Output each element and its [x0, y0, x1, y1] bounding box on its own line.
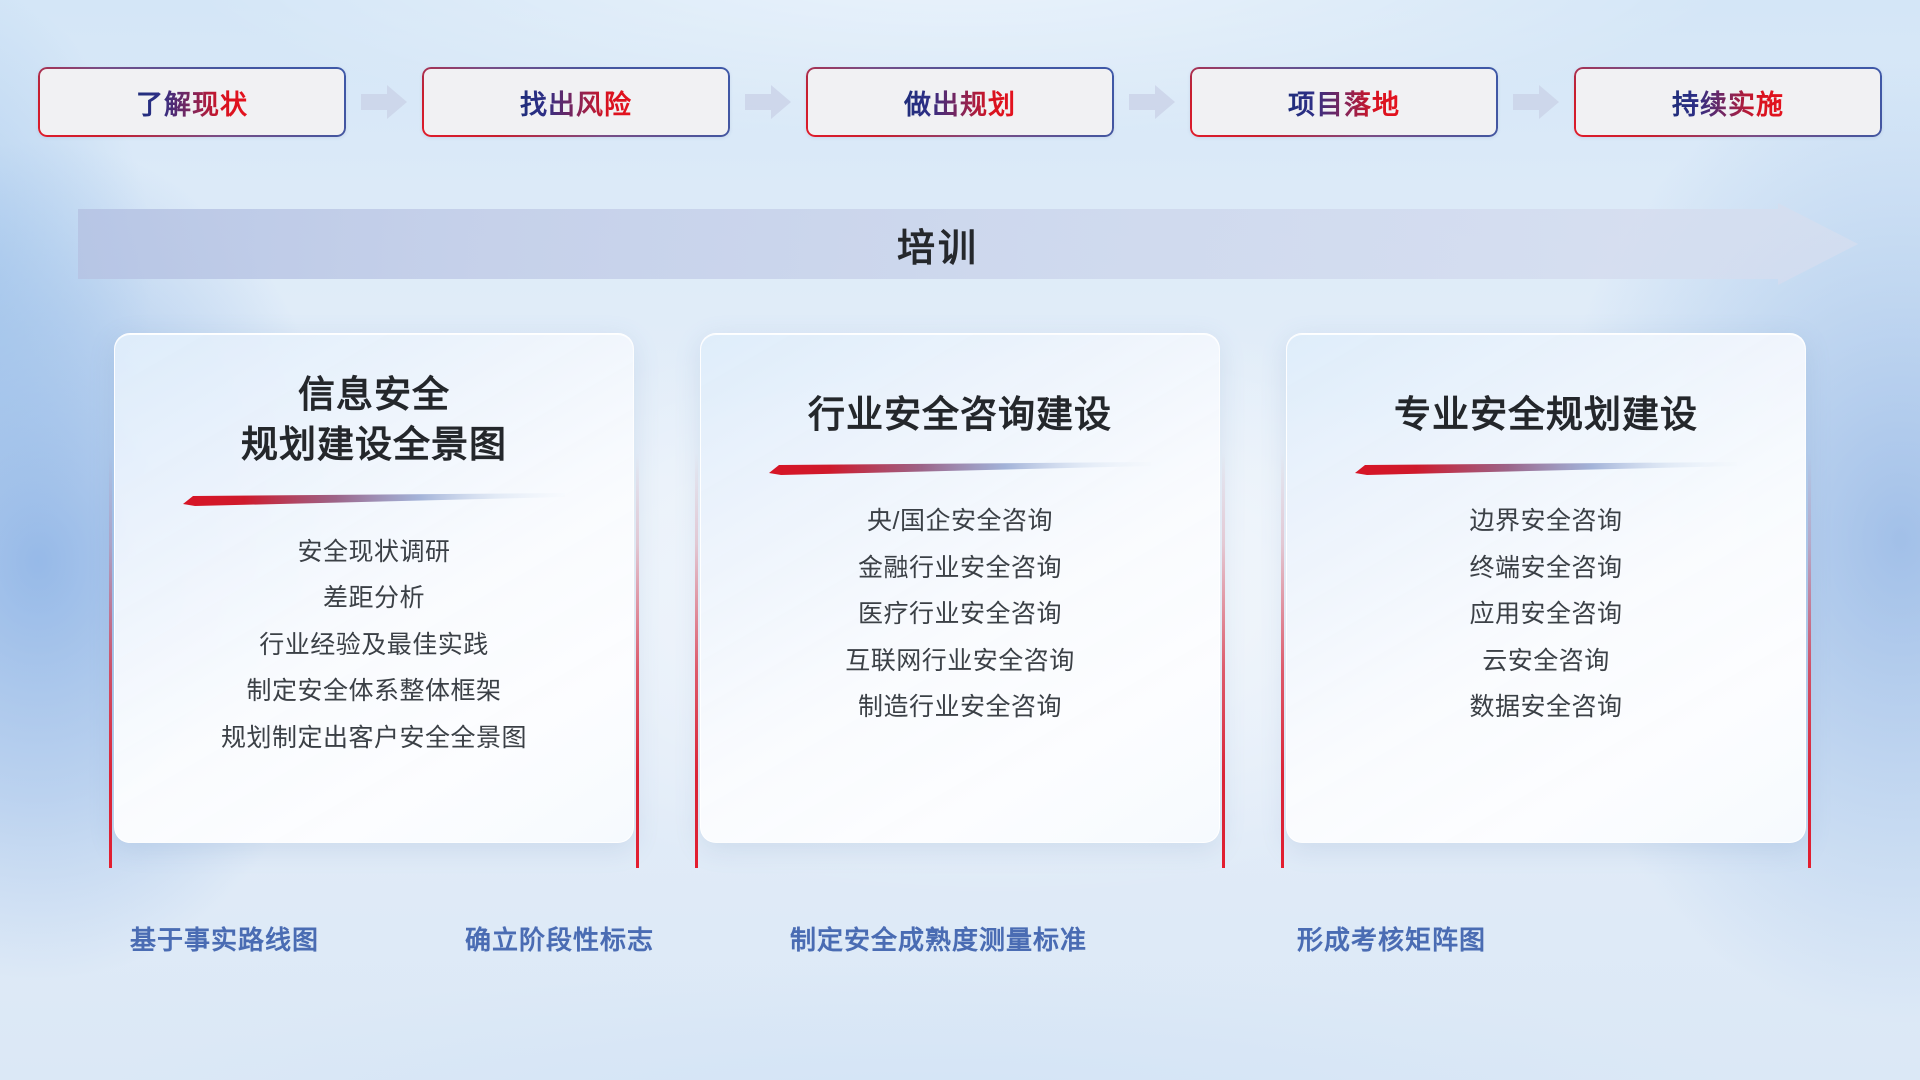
red-gradient-divider-icon — [183, 493, 565, 506]
right-block-arrow-icon — [745, 85, 791, 119]
card-3-list-item: 数据安全咨询 — [1469, 687, 1622, 729]
card-1[interactable]: 信息安全 规划建设全景图安全现状调研差距分析行业经验及最佳实践制定安全体系整体框… — [114, 333, 634, 843]
card-1-left-accent-line — [109, 453, 112, 868]
footer-label-2: 确立阶段性标志 — [465, 920, 654, 957]
card-1-list-item: 安全现状调研 — [297, 532, 450, 574]
process-step-row: 了解现状找出风险做出规划项目落地持续实施 — [0, 62, 1920, 142]
step-arrow-1 — [346, 67, 422, 137]
step-box-5[interactable]: 持续实施 — [1574, 67, 1882, 137]
card-1-list: 安全现状调研差距分析行业经验及最佳实践制定安全体系整体框架规划制定出客户安全全景… — [221, 532, 527, 760]
card-1-divider — [183, 493, 565, 506]
step-arrow-4 — [1498, 67, 1574, 137]
card-2-title: 行业安全咨询建设 — [808, 390, 1112, 440]
step-label-1: 了解现状 — [136, 83, 248, 122]
card-1-list-item: 行业经验及最佳实践 — [259, 625, 489, 667]
card-2[interactable]: 行业安全咨询建设央/国企安全咨询金融行业安全咨询医疗行业安全咨询互联网行业安全咨… — [700, 333, 1220, 843]
card-3-title: 专业安全规划建设 — [1394, 390, 1698, 440]
red-gradient-divider-icon — [1355, 462, 1737, 475]
step-arrow-2 — [730, 67, 806, 137]
card-2-list-item: 医疗行业安全咨询 — [858, 594, 1062, 636]
card-3-list: 边界安全咨询终端安全咨询应用安全咨询云安全咨询数据安全咨询 — [1469, 501, 1622, 729]
card-3-right-accent-line — [1808, 453, 1811, 868]
card-1-title: 信息安全 规划建设全景图 — [241, 370, 507, 471]
footer-label-row: 基于事实路线图确立阶段性标志制定安全成熟度测量标准形成考核矩阵图 — [0, 920, 1920, 972]
footer-label-3: 制定安全成熟度测量标准 — [790, 920, 1087, 957]
card-wrapper-1: 信息安全 规划建设全景图安全现状调研差距分析行业经验及最佳实践制定安全体系整体框… — [109, 333, 639, 878]
card-3-divider — [1355, 462, 1737, 475]
banner-title: 培训 — [78, 203, 1858, 285]
footer-label-1: 基于事实路线图 — [130, 920, 319, 957]
step-label-3: 做出规划 — [904, 83, 1016, 122]
right-block-arrow-icon — [1513, 85, 1559, 119]
step-label-2: 找出风险 — [520, 83, 632, 122]
card-1-list-item: 制定安全体系整体框架 — [246, 671, 501, 713]
card-3-left-accent-line — [1281, 453, 1284, 868]
card-3-list-item: 终端安全咨询 — [1469, 548, 1622, 590]
training-banner: 培训 — [78, 203, 1858, 285]
card-wrapper-3: 专业安全规划建设边界安全咨询终端安全咨询应用安全咨询云安全咨询数据安全咨询 — [1281, 333, 1811, 878]
card-2-divider — [769, 462, 1151, 475]
card-2-left-accent-line — [695, 453, 698, 868]
card-wrapper-2: 行业安全咨询建设央/国企安全咨询金融行业安全咨询医疗行业安全咨询互联网行业安全咨… — [695, 333, 1225, 878]
card-2-list: 央/国企安全咨询金融行业安全咨询医疗行业安全咨询互联网行业安全咨询制造行业安全咨… — [845, 501, 1075, 729]
card-2-list-item: 央/国企安全咨询 — [867, 501, 1053, 543]
card-3-list-item: 云安全咨询 — [1482, 641, 1610, 683]
step-box-1[interactable]: 了解现状 — [38, 67, 346, 137]
card-1-list-item: 规划制定出客户安全全景图 — [221, 718, 527, 760]
red-gradient-divider-icon — [769, 462, 1151, 475]
card-3-list-item: 边界安全咨询 — [1469, 501, 1622, 543]
card-2-right-accent-line — [1222, 453, 1225, 868]
card-3-list-item: 应用安全咨询 — [1469, 594, 1622, 636]
step-label-5: 持续实施 — [1672, 83, 1784, 122]
right-block-arrow-icon — [1129, 85, 1175, 119]
step-label-4: 项目落地 — [1288, 83, 1400, 122]
step-box-4[interactable]: 项目落地 — [1190, 67, 1498, 137]
right-block-arrow-icon — [361, 85, 407, 119]
footer-label-4: 形成考核矩阵图 — [1297, 920, 1486, 957]
card-row: 信息安全 规划建设全景图安全现状调研差距分析行业经验及最佳实践制定安全体系整体框… — [0, 333, 1920, 878]
step-arrow-3 — [1114, 67, 1190, 137]
card-2-list-item: 互联网行业安全咨询 — [845, 641, 1075, 683]
step-box-3[interactable]: 做出规划 — [806, 67, 1114, 137]
card-1-list-item: 差距分析 — [323, 578, 425, 620]
card-3[interactable]: 专业安全规划建设边界安全咨询终端安全咨询应用安全咨询云安全咨询数据安全咨询 — [1286, 333, 1806, 843]
card-2-list-item: 金融行业安全咨询 — [858, 548, 1062, 590]
card-2-list-item: 制造行业安全咨询 — [858, 687, 1062, 729]
card-1-right-accent-line — [636, 453, 639, 868]
step-box-2[interactable]: 找出风险 — [422, 67, 730, 137]
